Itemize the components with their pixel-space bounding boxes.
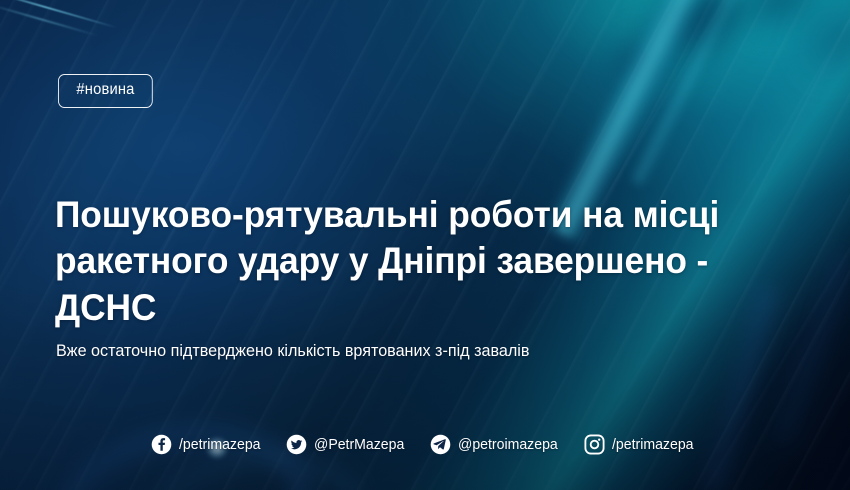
twitter-icon (286, 434, 307, 455)
social-handle: /petrimazepa (179, 437, 261, 452)
telegram-icon (430, 434, 451, 455)
news-card: #новина Пошуково-рятувальні роботи на мі… (0, 0, 850, 490)
hashtag-badge[interactable]: #новина (58, 74, 153, 108)
social-handle: @petroimazepa (458, 437, 558, 452)
instagram-icon (584, 434, 605, 455)
social-handle: @PetrMazepa (314, 437, 404, 452)
facebook-icon (151, 434, 172, 455)
social-handle: /petrimazepa (612, 437, 694, 452)
card-content: #новина Пошуково-рятувальні роботи на мі… (0, 0, 850, 490)
page-title: Пошуково-рятувальні роботи на місці раке… (55, 192, 781, 331)
social-links-bar: /petrimazepa @PetrMazepa (0, 434, 850, 455)
subtitle: Вже остаточно підтверджено кількість вря… (56, 340, 759, 362)
social-link-telegram[interactable]: @petroimazepa (430, 434, 564, 455)
social-link-twitter[interactable]: @PetrMazepa (286, 434, 410, 455)
social-link-facebook[interactable]: /petrimazepa (151, 434, 266, 455)
social-link-instagram[interactable]: /petrimazepa (584, 434, 699, 455)
